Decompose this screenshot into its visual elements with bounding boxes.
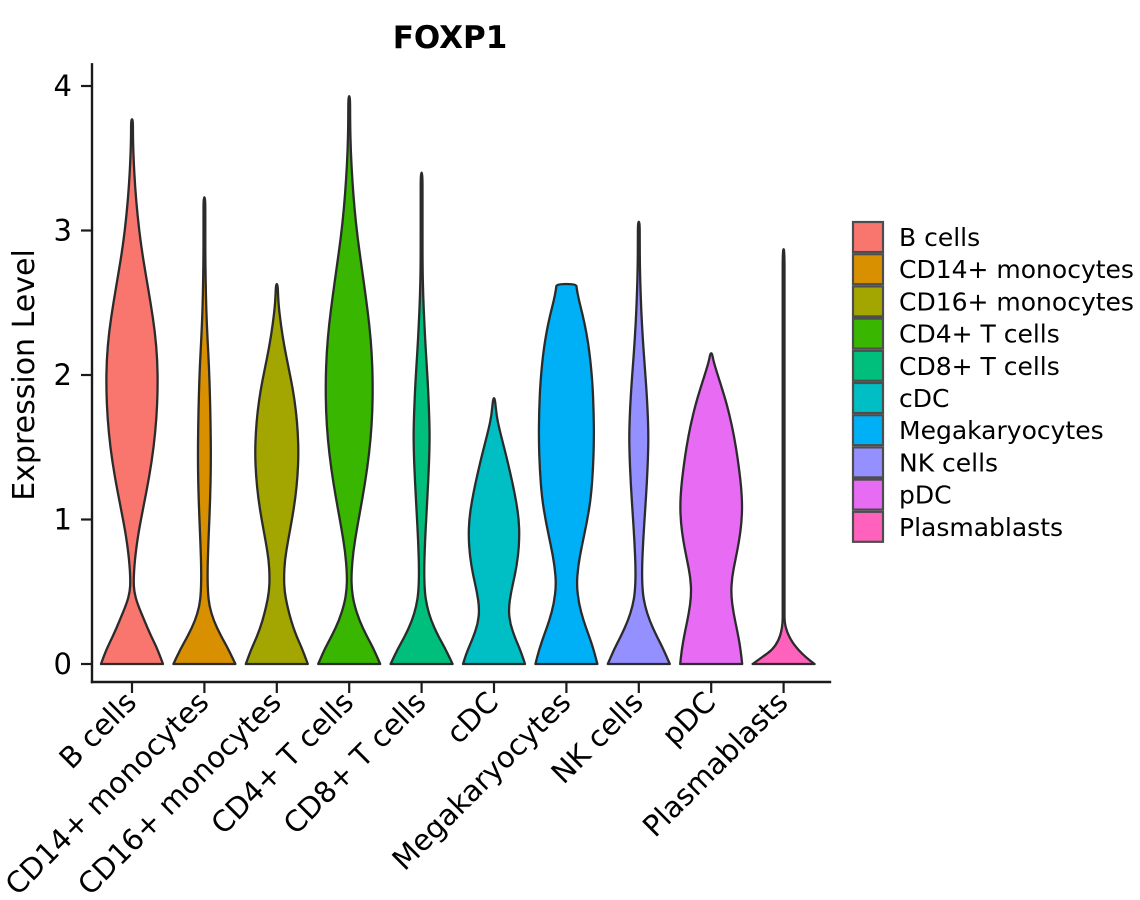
legend-label: pDC [899,481,952,510]
y-axis-tick-label: 3 [54,214,72,248]
y-axis-tick-label: 0 [54,647,72,681]
legend-swatch-pdc[interactable] [853,480,883,510]
legend-label: CD14+ monocytes [899,255,1134,284]
legend-label: NK cells [899,448,998,477]
violin-nk-cells[interactable] [608,222,670,664]
legend-swatch-cd8-t-cells[interactable] [853,351,883,381]
plot-title-group: FOXP1 [393,20,508,56]
legend-label: CD16+ monocytes [899,287,1134,316]
legend-label: Megakaryocytes [899,416,1104,445]
legend-swatch-cdc[interactable] [853,383,883,413]
violin-cd8-t-cells[interactable] [391,173,453,664]
legend-swatch-plasmablasts[interactable] [853,512,883,542]
y-axis-tick-label: 4 [54,69,72,103]
legend-swatch-cd4-t-cells[interactable] [853,319,883,349]
legend-label: CD8+ T cells [899,352,1060,381]
violin-cd14-monocytes[interactable] [173,197,235,664]
violin-series-group [101,96,815,664]
violin-plasmablasts[interactable] [753,249,815,664]
legend-swatch-cd14-monocytes[interactable] [853,254,883,284]
page-title: FOXP1 [393,20,508,56]
y-axis: 01234 [54,64,92,682]
legend-label: B cells [899,223,980,252]
violin-megakaryocytes[interactable] [535,284,597,664]
chart-canvas: FOXP1 01234 B cellsCD14+ monocytesCD16+ … [0,0,1140,900]
violin-cd4-t-cells[interactable] [318,96,380,664]
legend-swatch-b-cells[interactable] [853,222,883,252]
x-axis-tick-label: cDC [440,685,505,750]
violin-b-cells[interactable] [101,119,163,664]
violin-plot-figure: FOXP1 01234 B cellsCD14+ monocytesCD16+ … [0,0,1140,900]
violin-cdc[interactable] [463,398,525,664]
y-axis-tick-label: 1 [54,503,72,537]
y-axis-tick-label: 2 [54,358,72,392]
y-axis-title: Expression Level [7,249,42,501]
legend-label: Plasmablasts [899,513,1063,542]
legend-swatch-megakaryocytes[interactable] [853,415,883,445]
violin-cd16-monocytes[interactable] [246,284,308,664]
legend-label: CD4+ T cells [899,320,1060,349]
legend-label: cDC [899,384,949,413]
y-axis-title-group: Expression Level [7,249,42,501]
legend-swatch-nk-cells[interactable] [853,447,883,477]
legend: B cellsCD14+ monocytesCD16+ monocytesCD4… [853,222,1134,542]
violin-pdc[interactable] [680,353,742,664]
x-axis: B cellsCD14+ monocytesCD16+ monocytesCD4… [0,682,830,900]
legend-swatch-cd16-monocytes[interactable] [853,286,883,316]
